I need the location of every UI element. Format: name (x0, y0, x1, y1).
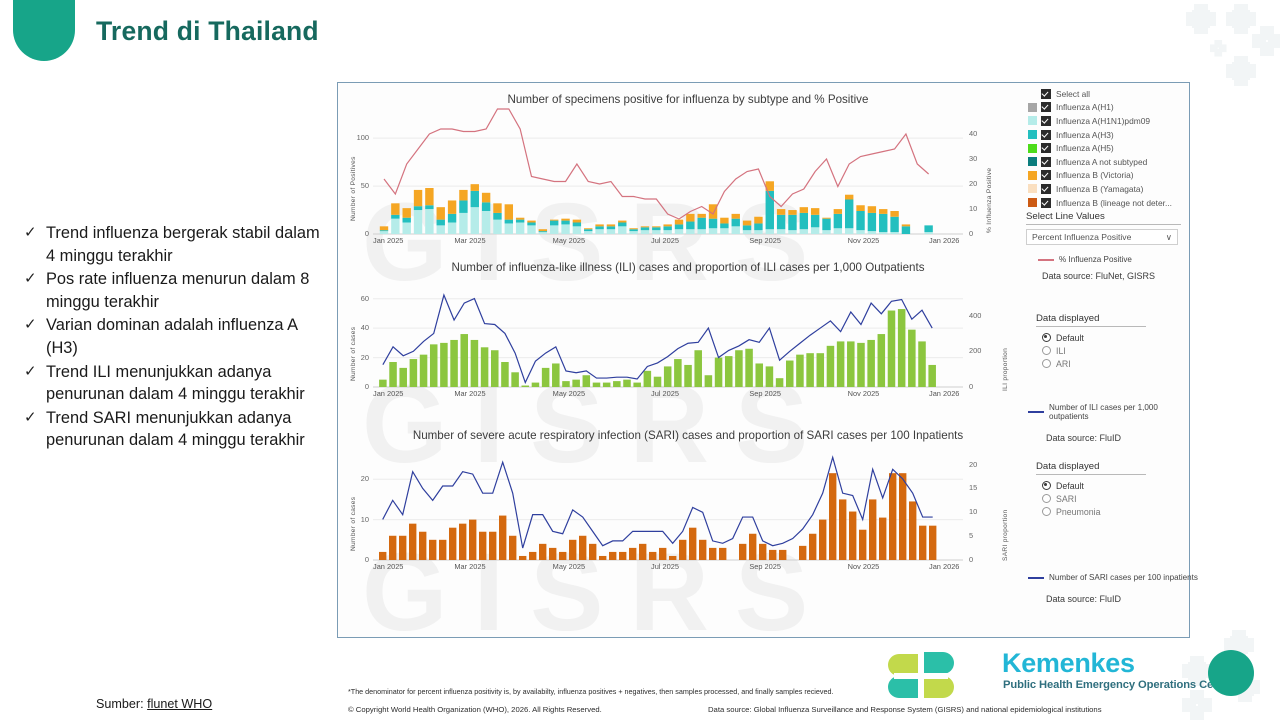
legend-checkbox[interactable] (1041, 143, 1051, 153)
legend-entry[interactable]: Influenza B (lineage not deter... (1028, 196, 1188, 210)
legend-checkbox[interactable] (1041, 130, 1051, 140)
panel3-data-displayed-title: Data displayed (1036, 461, 1146, 475)
legend-color-swatch (1028, 171, 1037, 180)
x-axis-tick: Sep 2025 (749, 389, 781, 398)
panel2-data-source: Data source: FluID (1046, 433, 1198, 443)
x-axis-tick: Jan 2025 (373, 236, 403, 245)
panel3-radio-group[interactable]: DefaultSARIPneumonia (1042, 479, 1196, 518)
chart2-title: Number of influenza-like illness (ILI) c… (338, 261, 1038, 274)
x-axis-tick: Nov 2025 (848, 389, 880, 398)
legend-color-swatch (1028, 103, 1037, 112)
x-axis-tick: Jul 2025 (651, 389, 679, 398)
x-axis-tick: Jan 2025 (373, 389, 403, 398)
y-axis-tick: 0 (345, 229, 369, 238)
y-axis-tick: 50 (345, 181, 369, 190)
line-swatch-ili (1028, 411, 1044, 413)
panel3-option[interactable]: SARI (1042, 492, 1196, 505)
chart1-y2label: % Influenza Positive (986, 168, 993, 233)
panel1-line-key: % Influenza Positive Data source: FluNet… (1038, 255, 1198, 281)
legend-entry[interactable]: Influenza A not subtyped (1028, 155, 1188, 169)
radio-button[interactable] (1042, 359, 1051, 368)
legend-entry[interactable]: Influenza A(H1) (1028, 101, 1188, 115)
bullet-item: ✓Pos rate influenza menurun dalam 8 ming… (24, 268, 324, 313)
line-swatch-percent-positive (1038, 259, 1054, 261)
dashboard-footnote: *The denominator for percent influenza p… (348, 687, 833, 696)
y2-axis-tick: 40 (969, 129, 995, 138)
legend-checkbox[interactable] (1041, 157, 1051, 167)
chart3-y2label: SARI proportion (1002, 510, 1009, 561)
y2-axis-tick: 20 (969, 460, 995, 469)
legend-entry[interactable]: Influenza A(H5) (1028, 141, 1188, 155)
y2-axis-tick: 0 (969, 555, 995, 564)
y-axis-tick: 10 (345, 515, 369, 524)
select-line-values-dropdown[interactable]: Percent Influenza Positive ∨ (1026, 229, 1178, 245)
select-all-label: Select all (1056, 89, 1090, 99)
legend-entry[interactable]: Influenza A(H3) (1028, 128, 1188, 142)
bullet-item: ✓Varian dominan adalah influenza A (H3) (24, 314, 324, 359)
check-icon: ✓ (24, 268, 46, 291)
line-swatch-sari (1028, 577, 1044, 579)
legend-color-swatch (1028, 184, 1037, 193)
panel3-option[interactable]: Default (1042, 479, 1196, 492)
legend-label: Influenza A(H1) (1056, 102, 1114, 112)
panel1-line-key-label: % Influenza Positive (1059, 255, 1132, 264)
x-axis-tick: Jan 2026 (929, 389, 959, 398)
chart3-ylabel: Number of cases (350, 497, 357, 551)
legend-color-swatch (1028, 198, 1037, 207)
legend-checkbox[interactable] (1041, 184, 1051, 194)
panel2-data-displayed[interactable]: Data displayed DefaultILIARI (1036, 313, 1196, 370)
x-axis-tick: Nov 2025 (848, 236, 880, 245)
x-axis-tick: Mar 2025 (454, 236, 485, 245)
x-axis-tick: May 2025 (553, 236, 585, 245)
y2-axis-tick: 0 (969, 229, 995, 238)
legend-label: Influenza A(H5) (1056, 143, 1114, 153)
panel1-data-source: Data source: FluNet, GISRS (1042, 271, 1198, 281)
legend-checkbox[interactable] (1041, 102, 1051, 112)
y-axis-tick: 40 (345, 323, 369, 332)
chart2-plot-area[interactable]: 02040600200400Jan 2025Mar 2025May 2025Ju… (373, 287, 963, 387)
y2-axis-tick: 5 (969, 531, 995, 540)
logo-name: Kemenkes (1002, 648, 1135, 679)
x-axis-tick: Sep 2025 (749, 562, 781, 571)
y-axis-tick: 20 (345, 474, 369, 483)
y2-axis-tick: 0 (969, 382, 995, 391)
chart2-y2label: ILI proportion (1002, 348, 1009, 391)
legend-entry[interactable]: Influenza B (Yamagata) (1028, 182, 1188, 196)
y2-axis-tick: 400 (969, 311, 995, 320)
legend-color-swatch (1028, 157, 1037, 166)
x-axis-tick: Mar 2025 (454, 389, 485, 398)
y-axis-tick: 0 (345, 555, 369, 564)
legend-color-swatch (1028, 130, 1037, 139)
x-axis-tick: May 2025 (553, 389, 585, 398)
panel3-option[interactable]: Pneumonia (1042, 505, 1196, 518)
y-axis-tick: 60 (345, 294, 369, 303)
who-gisrs-dashboard-panel: GISRS GISRS GISRS Number of specimens po… (337, 82, 1190, 638)
panel2-data-displayed-title: Data displayed (1036, 313, 1146, 327)
legend-label: Influenza B (Victoria) (1056, 170, 1134, 180)
panel3-line-key-label: Number of SARI cases per 100 inpatients (1049, 573, 1198, 582)
teal-circle-accent (1208, 650, 1254, 696)
bullet-text: Trend SARI menunjukkan adanya penurunan … (46, 407, 324, 452)
check-icon: ✓ (24, 222, 46, 245)
x-axis-tick: Nov 2025 (848, 562, 880, 571)
legend-label: Influenza A(H3) (1056, 130, 1114, 140)
y2-axis-tick: 30 (969, 154, 995, 163)
legend-color-swatch (1028, 116, 1037, 125)
check-icon: ✓ (24, 314, 46, 337)
bullet-text: Trend ILI menunjukkan adanya penurunan d… (46, 361, 324, 406)
chart3-plot-area[interactable]: 0102005101520Jan 2025Mar 2025May 2025Jul… (373, 455, 963, 560)
radio-label: Pneumonia (1056, 507, 1101, 517)
legend-checkbox[interactable] (1041, 170, 1051, 180)
radio-label: Default (1056, 333, 1084, 343)
y-axis-tick: 100 (345, 133, 369, 142)
header-accent-bar (13, 0, 75, 61)
legend-label: Influenza A(H1N1)pdm09 (1056, 116, 1150, 126)
panel2-option[interactable]: ILI (1042, 344, 1196, 357)
y2-axis-tick: 10 (969, 507, 995, 516)
y2-axis-tick: 10 (969, 204, 995, 213)
legend-checkbox[interactable] (1041, 198, 1051, 208)
legend-label: Influenza B (Yamagata) (1056, 184, 1143, 194)
legend-entry[interactable]: Influenza B (Victoria) (1028, 169, 1188, 183)
bullet-text: Pos rate influenza menurun dalam 8 mingg… (46, 268, 324, 313)
dashboard-copyright: © Copyright World Health Organization (W… (348, 705, 602, 714)
legend-entry[interactable]: Influenza A(H1N1)pdm09 (1028, 114, 1188, 128)
legend-color-swatch (1028, 144, 1037, 153)
x-axis-tick: Jan 2026 (929, 236, 959, 245)
source-line: Sumber: flunet WHO (96, 697, 212, 711)
panel2-radio-group[interactable]: DefaultILIARI (1042, 331, 1196, 370)
subtype-legend[interactable]: Select all Influenza A(H1)Influenza A(H1… (1028, 87, 1188, 209)
radio-button[interactable] (1042, 333, 1051, 342)
panel2-line-key: Number of ILI cases per 1,000 outpatient… (1028, 403, 1198, 443)
x-axis-tick: Jan 2026 (929, 562, 959, 571)
check-icon: ✓ (24, 407, 46, 430)
panel2-option[interactable]: ARI (1042, 357, 1196, 370)
x-axis-tick: Mar 2025 (454, 562, 485, 571)
panel2-line-key-label: Number of ILI cases per 1,000 outpatient… (1049, 403, 1198, 421)
chart1-plot-area[interactable]: 050100010203040Jan 2025Mar 2025May 2025J… (373, 119, 963, 234)
legend-swatch-blank (1028, 89, 1037, 98)
radio-button[interactable] (1042, 494, 1051, 503)
y2-axis-tick: 20 (969, 179, 995, 188)
legend-label: Influenza A not subtyped (1056, 157, 1147, 167)
source-prefix: Sumber: (96, 697, 147, 711)
x-axis-tick: Jul 2025 (651, 236, 679, 245)
radio-button[interactable] (1042, 481, 1051, 490)
decorative-pattern-top-right (1180, 0, 1280, 120)
radio-label: SARI (1056, 494, 1077, 504)
select-all-checkbox[interactable] (1041, 89, 1051, 99)
radio-label: Default (1056, 481, 1084, 491)
select-line-values-value: Percent Influenza Positive (1032, 232, 1131, 242)
x-axis-tick: Jul 2025 (651, 562, 679, 571)
chevron-down-icon: ∨ (1166, 232, 1172, 243)
chart3-title: Number of severe acute respiratory infec… (338, 429, 1038, 442)
page-title: Trend di Thailand (96, 16, 319, 47)
bullet-text: Varian dominan adalah influenza A (H3) (46, 314, 324, 359)
radio-button[interactable] (1042, 507, 1051, 516)
legend-select-all-row[interactable]: Select all (1028, 87, 1188, 101)
legend-checkbox[interactable] (1041, 116, 1051, 126)
select-line-values-block[interactable]: Select Line Values Percent Influenza Pos… (1026, 211, 1186, 245)
bullet-item: ✓Trend SARI menunjukkan adanya penurunan… (24, 407, 324, 452)
panel3-line-key: Number of SARI cases per 100 inpatients … (1028, 573, 1198, 604)
legend-entry-list[interactable]: Influenza A(H1)Influenza A(H1N1)pdm09Inf… (1028, 101, 1188, 210)
y-axis-tick: 0 (345, 382, 369, 391)
chart1-title: Number of specimens positive for influen… (338, 93, 1038, 106)
legend-label: Influenza B (lineage not deter... (1056, 198, 1172, 208)
panel3-data-displayed[interactable]: Data displayed DefaultSARIPneumonia (1036, 461, 1196, 518)
x-axis-tick: Jan 2025 (373, 562, 403, 571)
y2-axis-tick: 200 (969, 346, 995, 355)
bullet-text: Trend influenza bergerak stabil dalam 4 … (46, 222, 324, 267)
y2-axis-tick: 15 (969, 483, 995, 492)
source-link[interactable]: flunet WHO (147, 697, 212, 711)
panel2-option[interactable]: Default (1042, 331, 1196, 344)
x-axis-tick: Sep 2025 (749, 236, 781, 245)
radio-button[interactable] (1042, 346, 1051, 355)
select-line-values-title: Select Line Values (1026, 211, 1181, 225)
summary-bullet-list: ✓Trend influenza bergerak stabil dalam 4… (24, 222, 324, 453)
radio-label: ARI (1056, 359, 1071, 369)
x-axis-tick: May 2025 (553, 562, 585, 571)
check-icon: ✓ (24, 361, 46, 384)
bullet-item: ✓Trend influenza bergerak stabil dalam 4… (24, 222, 324, 267)
bullet-item: ✓Trend ILI menunjukkan adanya penurunan … (24, 361, 324, 406)
radio-label: ILI (1056, 346, 1066, 356)
panel3-data-source: Data source: FluID (1046, 594, 1198, 604)
y-axis-tick: 20 (345, 353, 369, 362)
logo-subtitle: Public Health Emergency Operations Cente… (1003, 679, 1234, 691)
